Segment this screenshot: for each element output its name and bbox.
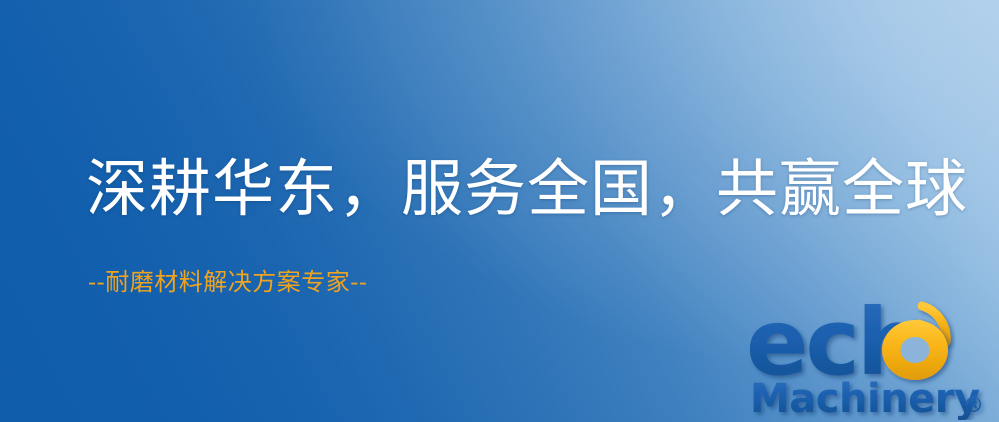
svg-text:®: ® bbox=[963, 393, 984, 417]
banner-headline: 深耕华东，服务全国，共赢全球 bbox=[86, 152, 968, 226]
svg-text:Machinery: Machinery bbox=[750, 376, 980, 420]
logo-artwork: ech Machinery ® bbox=[746, 292, 996, 420]
banner-subtitle: --耐磨材料解决方案专家-- bbox=[88, 266, 367, 298]
wordmark-gold-o bbox=[882, 320, 948, 380]
wordmark-machinery: Machinery ® bbox=[750, 376, 984, 420]
promo-banner: 深耕华东，服务全国，共赢全球 --耐磨材料解决方案专家-- echo Machi… bbox=[0, 0, 999, 422]
echo-machinery-logo: echo Machinery bbox=[746, 292, 996, 420]
